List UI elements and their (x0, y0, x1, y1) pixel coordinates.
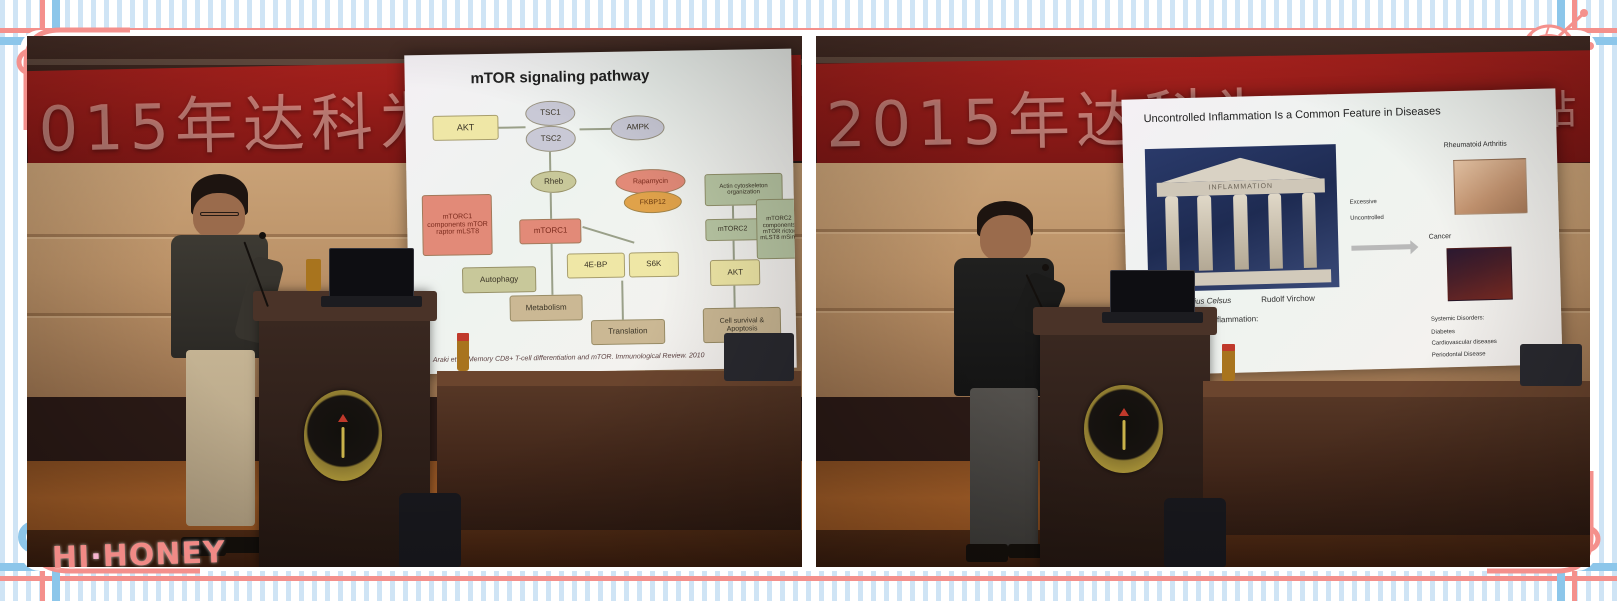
cancer-image (1447, 247, 1513, 301)
frame-line-bottom-pink (0, 576, 1617, 581)
bag-right (1164, 498, 1226, 567)
node-mtorc2: mTORC2 (705, 218, 760, 241)
chair-left (724, 333, 794, 381)
node-s6k: S6K (628, 251, 679, 277)
photo-row: 2015年达科为临 mTOR signaling pathway AKT TSC… (27, 36, 1590, 567)
node-ampk: AMPK (610, 115, 665, 141)
systemic-item-1: Diabetes (1431, 329, 1455, 338)
watermark: HI·HONEY (51, 535, 226, 576)
watermark-text-2: HONEY (102, 535, 226, 574)
water-bottle-table-left (457, 339, 469, 371)
node-metabolism: Metabolism (509, 294, 583, 321)
node-4ebp: 4E-BP (566, 252, 625, 278)
laptop-lid-left (329, 248, 414, 301)
disease-label-arthritis: Rheumatoid Arthritis (1444, 140, 1507, 151)
node-mtorc2-components: mTORC2 components mTOR rictor mLST8 mSin… (755, 198, 797, 259)
water-bottle-left (306, 259, 321, 291)
photo-right[interactable]: 2015年达科为 班一重庆分站 Uncontrolled Inflammatio… (816, 36, 1591, 567)
node-tsc1: TSC1 (525, 100, 576, 126)
water-bottle-right (1222, 349, 1234, 381)
arrow-label-1: Excessive (1350, 198, 1377, 207)
node-rheb: Rheb (530, 170, 577, 193)
watermark-dot: · (90, 539, 104, 574)
bag-left (399, 493, 461, 567)
laptop-base-right (1102, 312, 1203, 323)
node-translation: Translation (590, 318, 664, 345)
node-autophagy: Autophagy (462, 267, 536, 294)
laptop-lid-right (1110, 270, 1195, 318)
disease-label-cancer: Cancer (1429, 232, 1452, 242)
arrow-label-2: Uncontrolled (1350, 215, 1384, 224)
node-akt-top: AKT (432, 114, 498, 141)
node-akt-bottom: AKT (709, 259, 760, 285)
watermark-text-1: HI (51, 540, 90, 576)
chair-right (1520, 344, 1582, 386)
systemic-item-3: Periodontal Disease (1432, 350, 1486, 359)
slide-citation: Araki et al. Memory CD8+ T-cell differen… (432, 352, 704, 364)
slide-title: Uncontrolled Inflammation Is a Common Fe… (1144, 106, 1441, 126)
university-emblem (304, 390, 382, 481)
node-mtorc1-components: mTORC1 components mTOR raptor mLST8 (422, 194, 493, 256)
table-right (1203, 381, 1590, 535)
university-emblem (1084, 385, 1162, 473)
rheumatoid-arthritis-image (1453, 159, 1528, 216)
photo-collage: 2015年达科为临 mTOR signaling pathway AKT TSC… (0, 0, 1617, 601)
projection-screen-left: mTOR signaling pathway AKT TSC1 TSC2 AMP… (404, 49, 797, 374)
excessive-arrow-icon (1351, 244, 1412, 251)
node-tsc2: TSC2 (525, 126, 576, 152)
systemic-item-2: Cardiovascular diseases (1432, 339, 1498, 349)
laptop-base-left (321, 296, 422, 307)
photo-left[interactable]: 2015年达科为临 mTOR signaling pathway AKT TSC… (27, 36, 802, 567)
slide-title: mTOR signaling pathway (470, 67, 649, 87)
caption-virchow: Rudolf Virchow (1261, 294, 1315, 306)
node-mtorc1: mTORC1 (519, 218, 581, 245)
node-fkbp12: FKBP12 (623, 191, 681, 214)
table-left (437, 371, 801, 530)
systemic-heading: Systemic Disorders: (1431, 314, 1485, 323)
